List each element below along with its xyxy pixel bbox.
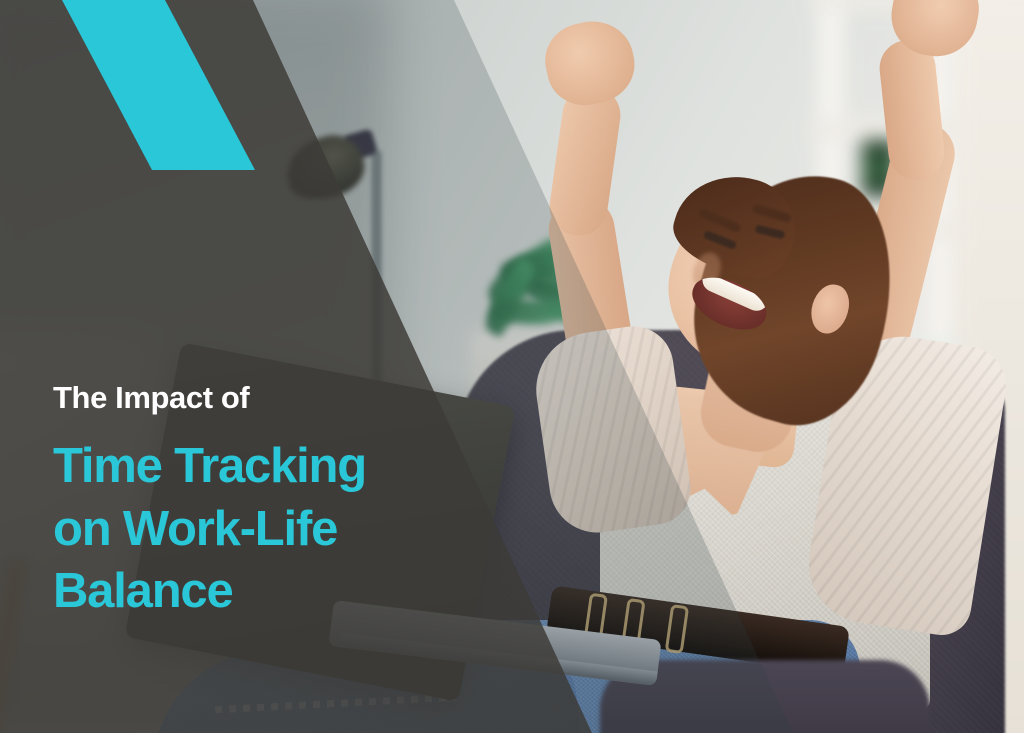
article-header-banner: The Impact of Time Tracking on Work-Life… — [0, 0, 1024, 733]
banner-headline: Time Tracking on Work-Life Balance — [53, 435, 573, 623]
headline-line-3: Balance — [53, 560, 573, 623]
brand-logo — [0, 0, 300, 190]
banner-kicker: The Impact of — [53, 382, 573, 413]
headline-line-1: Time Tracking — [53, 435, 573, 498]
parallelogram-logo-icon — [62, 0, 255, 170]
banner-text-block: The Impact of Time Tracking on Work-Life… — [53, 382, 573, 623]
headline-line-2: on Work-Life — [53, 498, 573, 561]
